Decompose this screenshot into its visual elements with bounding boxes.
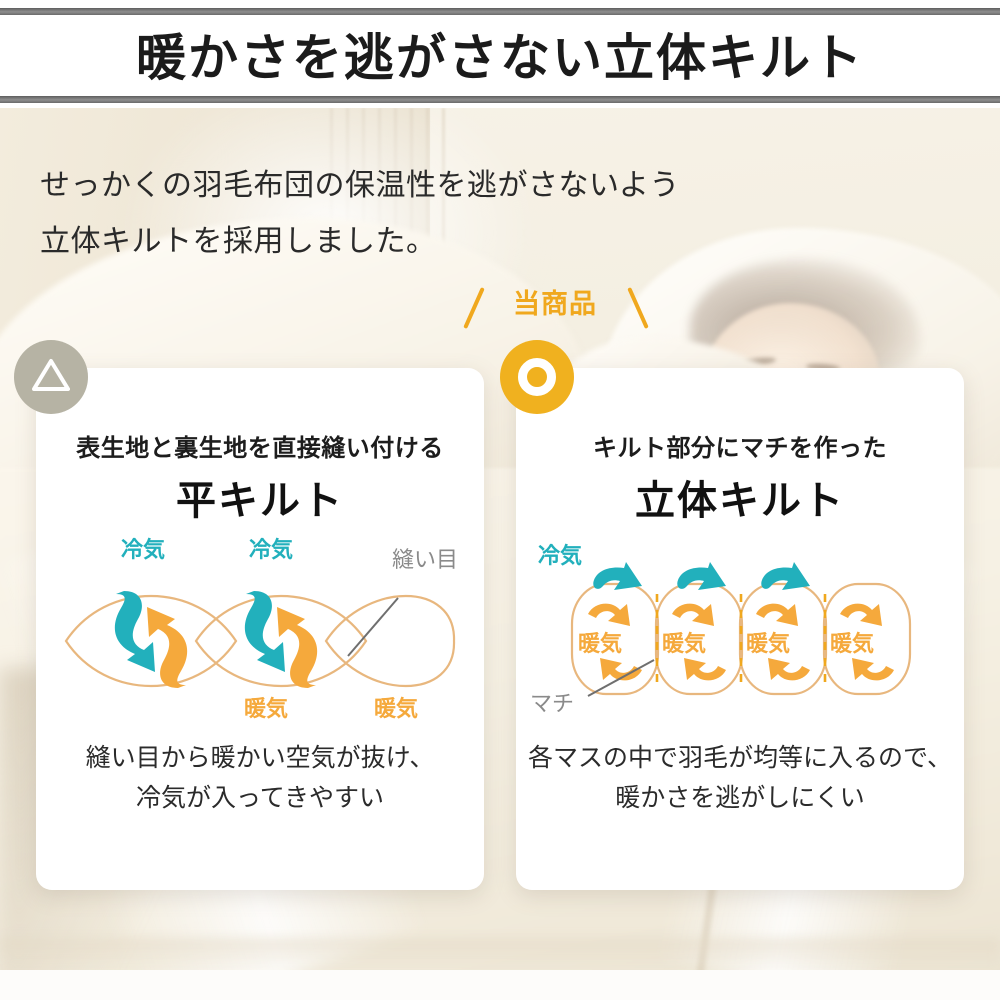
card-caption-flat-line1: 縫い目から暖かい空気が抜け、 <box>36 738 484 778</box>
gusset-leader-line <box>588 660 654 696</box>
lead-line-2: 立体キルトを採用しました。 <box>40 214 680 270</box>
page-title: 暖かさを逃がさない立体キルト <box>0 14 1000 94</box>
label-cold-air-1: 冷気 <box>121 532 165 564</box>
card-caption-box-line2: 暖かさを逃がしにくい <box>516 778 964 818</box>
card-subtitle-box: キルト部分にマチを作った <box>516 428 964 463</box>
diagram-box-quilt: 冷気 暖気 暖気 暖気 暖気 マチ <box>516 536 964 726</box>
card-subtitle-flat: 表生地と裏生地を直接縫い付ける <box>36 428 484 463</box>
card-caption-box: 各マスの中で羽毛が均等に入るので、 暖かさを逃がしにくい <box>516 738 964 818</box>
lead-line-1: せっかくの羽毛布団の保温性を逃がさないよう <box>40 158 680 214</box>
header-rule-bottom <box>0 96 1000 103</box>
lead-text: せっかくの羽毛布団の保温性を逃がさないよう 立体キルトを採用しました。 <box>40 158 680 270</box>
card-caption-box-line1: 各マスの中で羽毛が均等に入るので、 <box>516 738 964 778</box>
card-flat-quilt: 表生地と裏生地を直接縫い付ける 平キルト <box>36 368 484 890</box>
label-cold-air-box: 冷気 <box>538 538 582 570</box>
triangle-badge <box>14 340 88 414</box>
card-box-quilt: キルト部分にマチを作った 立体キルト <box>516 368 964 890</box>
photo-bottom-shade <box>0 938 1000 972</box>
cold-air-deflected-arrows <box>593 562 810 590</box>
card-caption-flat: 縫い目から暖かい空気が抜け、 冷気が入ってきやすい <box>36 738 484 818</box>
circle-target-icon <box>518 358 556 396</box>
label-warm-air-box-3: 暖気 <box>746 626 790 658</box>
label-warm-air-box-1: 暖気 <box>578 626 622 658</box>
circle-target-badge <box>500 340 574 414</box>
cold-air-arrows <box>115 591 285 672</box>
label-seam: 縫い目 <box>392 542 458 574</box>
card-caption-flat-line2: 冷気が入ってきやすい <box>36 778 484 818</box>
card-title-flat: 平キルト <box>36 468 484 526</box>
badge-label: 当商品 <box>460 282 650 321</box>
label-warm-air-box-4: 暖気 <box>830 626 874 658</box>
label-gusset: マチ <box>530 686 574 718</box>
label-warm-air-2: 暖気 <box>374 691 418 723</box>
label-cold-air-2: 冷気 <box>249 532 293 564</box>
infographic-canvas: 暖かさを逃がさない立体キルト せっかくの羽毛布団の保温性を逃がさないよう 立体キ… <box>0 0 1000 1000</box>
diagram-flat-quilt: 冷気 冷気 暖気 暖気 縫い目 <box>36 536 484 726</box>
card-title-box: 立体キルト <box>516 468 964 526</box>
label-warm-air-1: 暖気 <box>244 691 288 723</box>
header-band: 暖かさを逃がさない立体キルト <box>0 0 1000 108</box>
label-warm-air-box-2: 暖気 <box>662 626 706 658</box>
triangle-icon <box>32 361 70 394</box>
photo-floor <box>0 970 1000 1000</box>
this-product-badge: 当商品 <box>460 282 650 328</box>
